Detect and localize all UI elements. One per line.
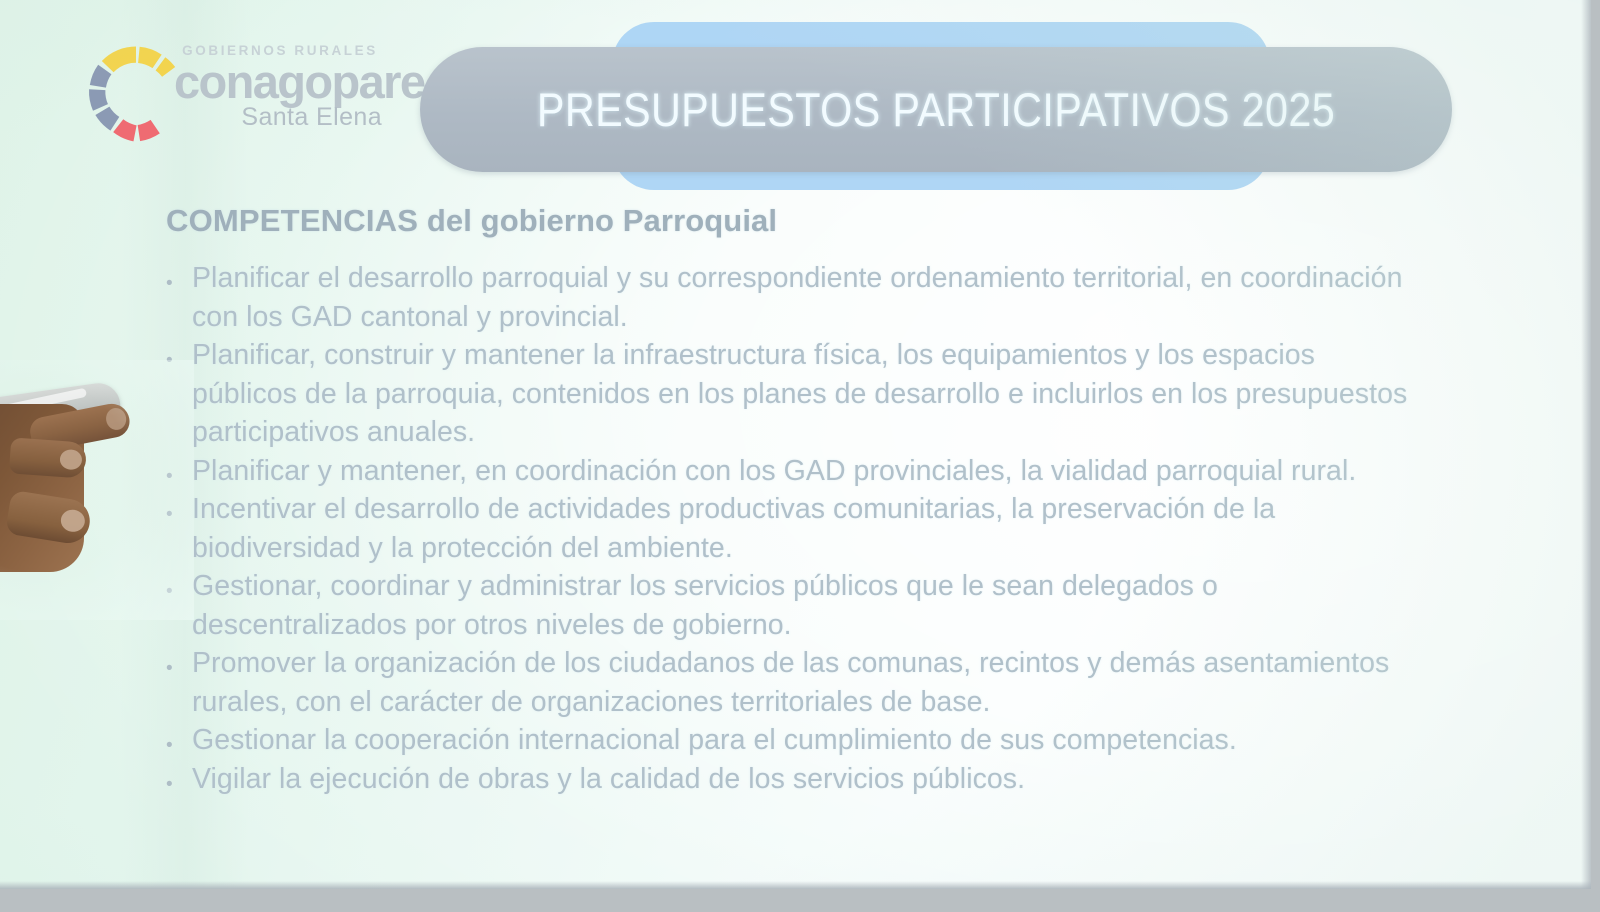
- list-item: • Gestionar la cooperación internacional…: [166, 721, 1426, 760]
- logo-wordmark: conagopare: [174, 59, 386, 104]
- list-item: • Gestionar, coordinar y administrar los…: [166, 567, 1426, 644]
- list-item-text: Promover la organización de los ciudadan…: [192, 644, 1426, 721]
- list-item: • Incentivar el desarrollo de actividade…: [166, 490, 1426, 567]
- list-item: • Promover la organización de los ciudad…: [166, 644, 1426, 721]
- screen-edge-right: [1581, 0, 1591, 889]
- presenter-hand: [0, 380, 184, 590]
- screen-edge-bottom: [0, 881, 1591, 889]
- list-item-text: Vigilar la ejecución de obras y la calid…: [192, 760, 1426, 799]
- fingernail: [59, 449, 82, 470]
- section-heading: COMPETENCIAS del gobierno Parroquial: [166, 203, 777, 239]
- list-item: • Planificar y mantener, en coordinación…: [166, 452, 1426, 491]
- slide-title: PRESUPUESTOS PARTICIPATIVOS 2025: [482, 47, 1390, 172]
- list-item-text: Gestionar la cooperación internacional p…: [192, 721, 1426, 760]
- bullet-dot-icon: •: [166, 721, 192, 755]
- list-item-text: Planificar, construir y mantener la infr…: [192, 336, 1426, 452]
- list-item-text: Gestionar, coordinar y administrar los s…: [192, 567, 1426, 644]
- bullet-dot-icon: •: [166, 336, 192, 370]
- fingernail: [104, 406, 128, 431]
- list-item-text: Incentivar el desarrollo de actividades …: [192, 490, 1426, 567]
- section-heading-strong: COMPETENCIAS: [166, 203, 418, 238]
- competencies-list: • Planificar el desarrollo parroquial y …: [166, 259, 1426, 798]
- section-heading-rest: del gobierno Parroquial: [418, 203, 777, 238]
- bullet-dot-icon: •: [166, 760, 192, 794]
- bullet-dot-icon: •: [166, 259, 192, 293]
- fingernail: [59, 508, 86, 533]
- logo-subtitle: Santa Elena: [174, 104, 386, 132]
- slide: GOBIERNOS RURALES conagopare Santa Elena…: [0, 0, 1591, 889]
- list-item: • Vigilar la ejecución de obras y la cal…: [166, 760, 1426, 799]
- conagopare-logo: GOBIERNOS RURALES conagopare Santa Elena: [88, 38, 388, 150]
- hand-middle-finger: [9, 437, 87, 478]
- bullet-dot-icon: •: [166, 644, 192, 678]
- conagopare-ring-icon: [88, 46, 184, 142]
- list-item-text: Planificar el desarrollo parroquial y su…: [192, 259, 1426, 336]
- list-item: • Planificar el desarrollo parroquial y …: [166, 259, 1426, 336]
- logo-text-block: GOBIERNOS RURALES conagopare Santa Elena: [174, 44, 386, 131]
- list-item-text: Planificar y mantener, en coordinación c…: [192, 452, 1426, 491]
- list-item: • Planificar, construir y mantener la in…: [166, 336, 1426, 452]
- projection-screen: GOBIERNOS RURALES conagopare Santa Elena…: [0, 0, 1591, 889]
